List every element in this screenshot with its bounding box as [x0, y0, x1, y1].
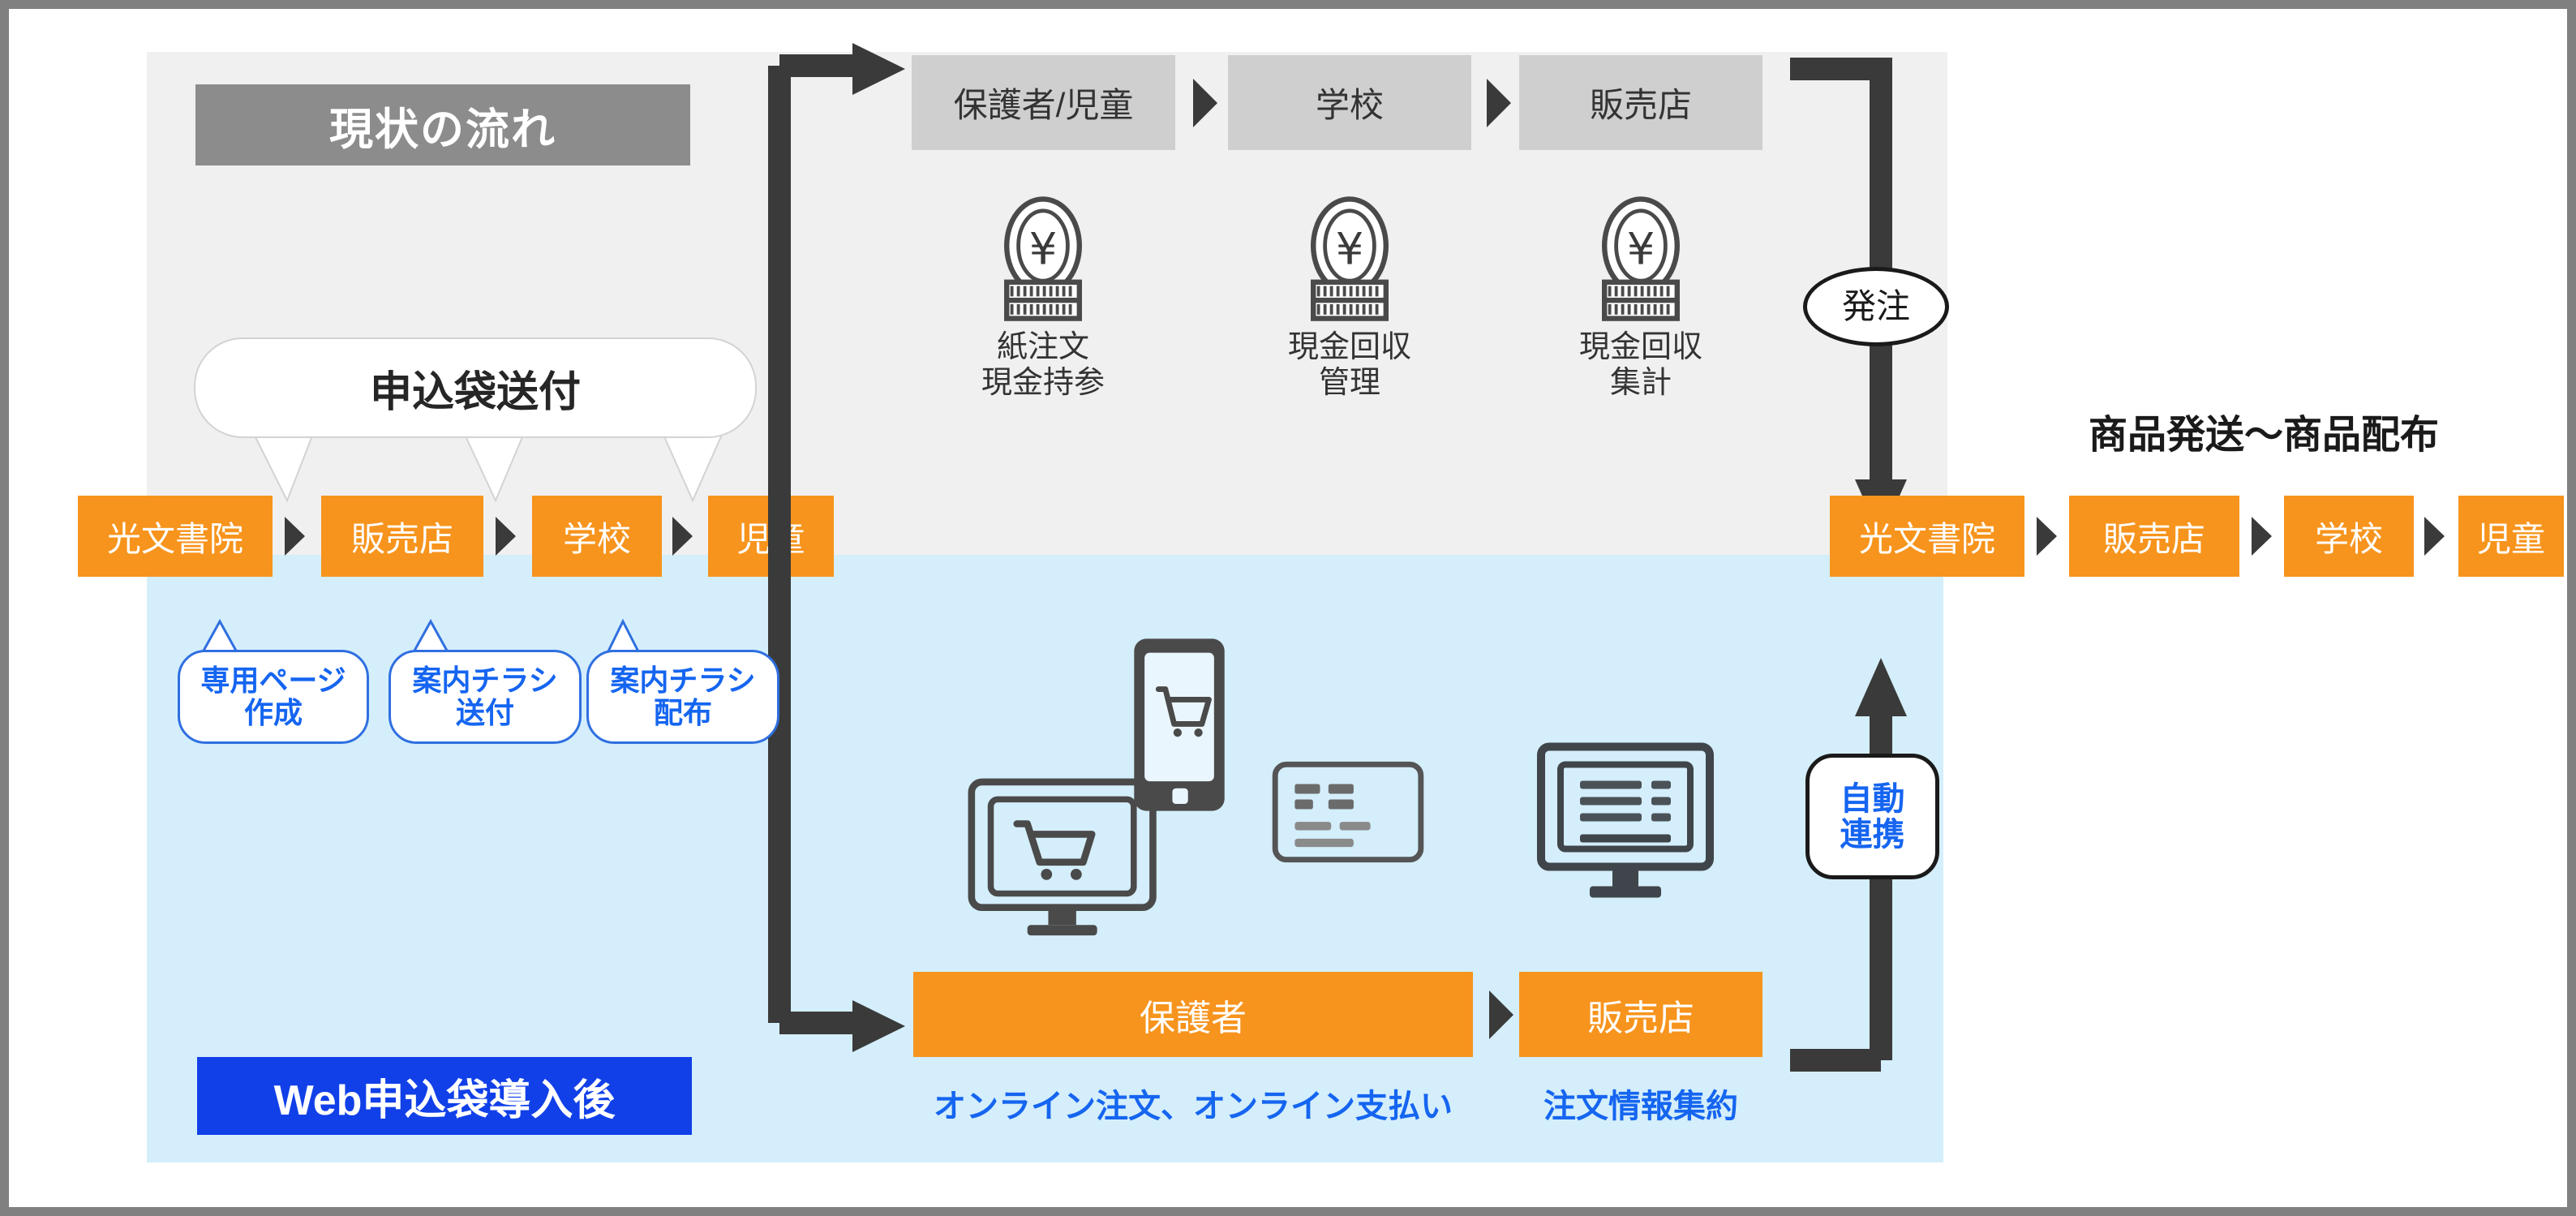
cash-icon-label: 現金回収 集計 [1576, 330, 1706, 401]
cash-icon-group-3: ¥ 現金回収 集計 [1576, 194, 1706, 401]
pill-order: 発注 [1803, 267, 1949, 346]
bubble-flyer-send: 案内チラシ 送付 [389, 650, 582, 744]
arrow-right-icon [2252, 517, 2272, 556]
arrow-right-icon [2424, 517, 2445, 556]
left-split-connector [763, 58, 925, 1031]
current-box-guardian-child: 保護者/児童 [912, 55, 1175, 150]
arrow-right-icon [1193, 79, 1217, 127]
web-box-shop: 販売店 [1519, 972, 1762, 1057]
callout-application-bag: 申込袋送付 [194, 337, 757, 438]
cash-icon-group-2: ¥ 現金回収 管理 [1285, 194, 1415, 401]
delivery-box-shop: 販売店 [2069, 496, 2239, 577]
delivery-box-child: 児童 [2458, 496, 2564, 577]
arrow-right-icon [496, 517, 516, 556]
credit-card-icon [1271, 759, 1425, 865]
web-box-guardian: 保護者 [913, 972, 1473, 1057]
yen-coin-icon: ¥ [978, 194, 1108, 324]
bubble-flyer-distribute: 案内チラシ 配布 [586, 650, 779, 744]
arrow-right-icon [672, 517, 693, 556]
cash-icon-label: 現金回収 管理 [1285, 330, 1415, 401]
web-caption-shop: 注文情報集約 [1511, 1080, 1771, 1127]
svg-text:¥: ¥ [1627, 223, 1655, 274]
svg-text:¥: ¥ [1029, 223, 1058, 274]
pill-auto-link: 自動 連携 [1805, 754, 1939, 879]
smartphone-cart-icon [1127, 634, 1232, 816]
diagram-canvas: 現状の流れ Web申込袋導入後 商品発送〜商品配布 保護者/児童 学校 販売店 … [0, 0, 2576, 1216]
cash-icon-group-1: ¥ 紙注文 現金持参 [978, 194, 1108, 401]
delivery-header: 商品発送〜商品配布 [1972, 402, 2556, 459]
current-flow-title: 現状の流れ [195, 84, 690, 165]
current-box-shop: 販売店 [1519, 55, 1762, 150]
arrow-right-icon [2037, 517, 2057, 556]
delivery-box-kobun-shoin: 光文書院 [1830, 496, 2024, 577]
current-box-school: 学校 [1228, 55, 1471, 150]
yen-coin-icon: ¥ [1285, 194, 1415, 324]
web-flow-title: Web申込袋導入後 [197, 1057, 692, 1135]
desktop-document-icon [1528, 741, 1723, 908]
arrow-right-icon [285, 517, 305, 556]
bubble-dedicated-page: 専用ページ 作成 [178, 650, 369, 744]
arrow-right-icon [1487, 79, 1511, 127]
cash-icon-label: 紙注文 現金持参 [978, 330, 1108, 401]
arrow-right-icon [1489, 990, 1513, 1039]
callout-tails [194, 428, 762, 517]
delivery-box-school: 学校 [2284, 496, 2414, 577]
svg-text:¥: ¥ [1336, 223, 1364, 274]
yen-coin-icon: ¥ [1576, 194, 1706, 324]
web-caption-guardian: オンライン注文、オンライン支払い [893, 1080, 1493, 1127]
